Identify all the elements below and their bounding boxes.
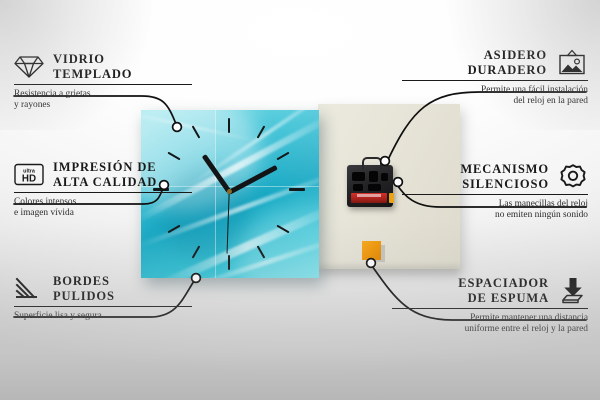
foam-spacer	[362, 241, 381, 260]
gear-icon	[558, 163, 588, 191]
movement-knob-b	[369, 171, 378, 182]
feature-title-line2: PULIDOS	[53, 289, 115, 304]
clock-movement	[347, 165, 393, 207]
feature-desc-line2: no emiten ningún sonido	[402, 210, 588, 221]
feature-title-line1: ASIDERO	[468, 48, 547, 63]
feature-desc-line1: Resistencia a grietas	[14, 89, 192, 100]
feature-espaciador-de-espuma: ESPACIADOR DE ESPUMA Permite mantener un…	[392, 276, 588, 336]
feature-vidrio-templado: VIDRIO TEMPLADO Resistencia a grietas y …	[14, 52, 192, 112]
feature-desc-line1: Colores intensos	[14, 197, 192, 208]
feature-divider	[14, 192, 192, 193]
feature-bordes-pulidos: BORDES PULIDOS Superficie lisa y segura	[14, 274, 192, 322]
feature-heading: BORDES PULIDOS	[14, 274, 192, 303]
feature-divider	[392, 308, 588, 309]
infographic-canvas: VIDRIO TEMPLADO Resistencia a grietas y …	[0, 0, 600, 400]
feature-desc-line2: uniforme entre el reloj y la pared	[392, 324, 588, 335]
clock-reflection-line-v	[215, 110, 216, 278]
battery-positive-terminal	[389, 193, 394, 203]
movement-knob-c	[381, 173, 388, 181]
movement-knob-e	[368, 184, 381, 191]
movement-knob-a	[352, 172, 365, 181]
feature-desc-line1: Superficie lisa y segura	[14, 311, 192, 322]
ultra-hd-icon: ultra HD	[14, 162, 44, 187]
feature-title-line2: TEMPLADO	[53, 67, 132, 82]
feature-desc-line2: y rayones	[14, 100, 192, 111]
feature-impresion-alta-calidad: ultra HD IMPRESIÓN DE ALTA CALIDAD Color…	[14, 160, 192, 220]
feature-divider	[14, 306, 192, 307]
feature-heading: ultra HD IMPRESIÓN DE ALTA CALIDAD	[14, 160, 192, 189]
feature-desc-line2: del reloj en la pared	[402, 96, 588, 107]
feature-heading: MECANISMO SILENCIOSO	[402, 162, 588, 191]
feature-title-line2: SILENCIOSO	[460, 177, 549, 192]
feature-title-line1: MECANISMO	[460, 162, 549, 177]
clock-tick-3	[289, 188, 305, 191]
feature-title-line2: DE ESPUMA	[458, 291, 549, 306]
feature-divider	[402, 80, 588, 81]
feature-title-line1: IMPRESIÓN DE	[53, 160, 157, 175]
aa-battery	[351, 193, 387, 203]
feature-title-line1: VIDRIO	[53, 52, 132, 67]
feature-desc-line1: Permite una fácil instalación	[402, 85, 588, 96]
feature-heading: ASIDERO DURADERO	[402, 48, 588, 77]
diamond-icon	[14, 54, 44, 79]
feature-heading: VIDRIO TEMPLADO	[14, 52, 192, 81]
feature-desc-line1: Las manecillas del reloj	[402, 199, 588, 210]
feature-title-line1: ESPACIADOR	[458, 276, 549, 291]
ultra-hd-icon-main-text: HD	[22, 174, 36, 185]
feature-title-line2: DURADERO	[468, 63, 547, 78]
feature-heading: ESPACIADOR DE ESPUMA	[392, 276, 588, 305]
clock-tick-2	[276, 152, 289, 161]
wall-hanger-frame-icon	[556, 49, 588, 76]
press-down-foam-icon	[558, 277, 588, 305]
feature-divider	[14, 84, 192, 85]
clock-hand-cap	[227, 189, 232, 194]
clock-tick-12	[228, 118, 230, 133]
feature-desc-line2: e imagen vívida	[14, 208, 192, 219]
clock-tick-6	[228, 255, 230, 270]
feature-title-line2: ALTA CALIDAD	[53, 175, 157, 190]
feature-divider	[402, 194, 588, 195]
battery-label-stripe	[357, 194, 381, 197]
feature-desc-line1: Permite mantener una distancia	[392, 313, 588, 324]
feature-title-line1: BORDES	[53, 274, 115, 289]
movement-knob-d	[353, 184, 363, 191]
movement-hanger-loop	[362, 157, 382, 170]
feature-asidero-duradero: ASIDERO DURADERO Permite una fácil insta…	[402, 48, 588, 108]
polished-edges-icon	[14, 276, 44, 301]
feature-mecanismo-silencioso: MECANISMO SILENCIOSO Las manecillas del …	[402, 162, 588, 222]
